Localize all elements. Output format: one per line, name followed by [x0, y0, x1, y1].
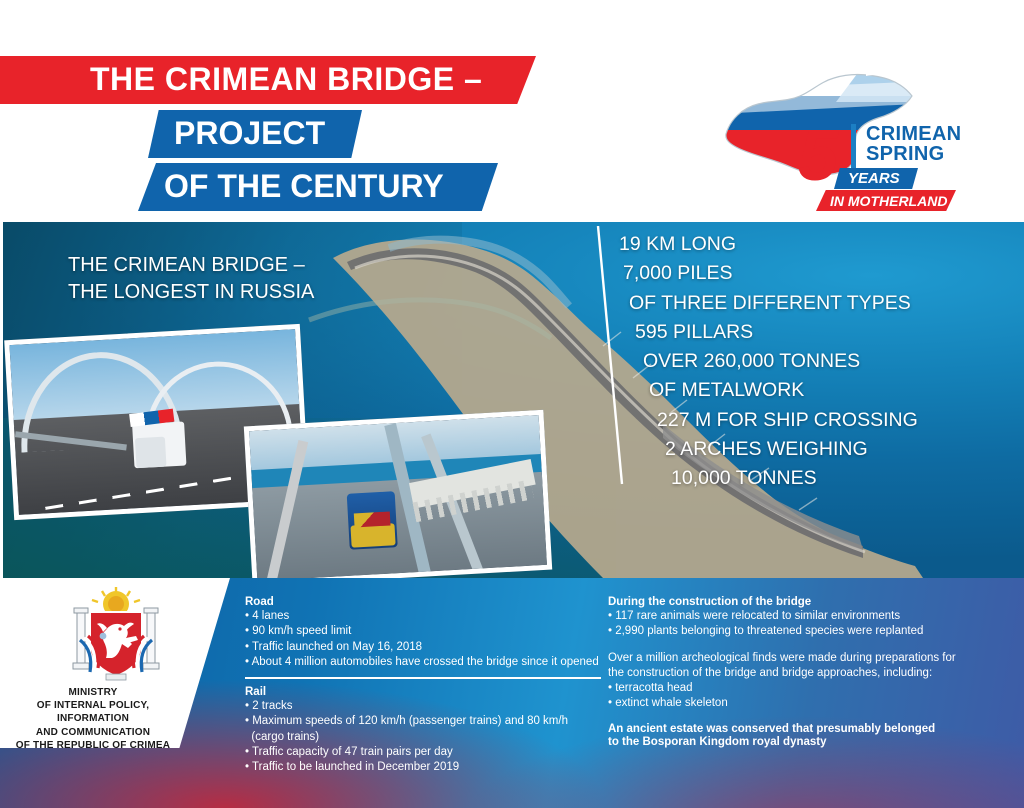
ministry-caption-line: MINISTRY	[0, 686, 186, 699]
archeology-paragraph-line: Over a million archeological finds were …	[608, 651, 998, 666]
stat-item: 2 ARCHES WEIGHING	[665, 435, 918, 464]
rail-item: • 2 tracks	[245, 699, 605, 714]
logo-name-line-2: SPRING	[866, 144, 944, 164]
road-item: • 90 km/h speed limit	[245, 624, 605, 639]
logo-years-label: YEARS	[848, 170, 900, 187]
ancient-estate-line: to the Bosporan Kingdom royal dynasty	[608, 736, 998, 748]
ancient-estate-line: An ancient estate was conserved that pre…	[608, 723, 998, 735]
ministry-emblem-panel: MINISTRY OF INTERNAL POLICY, INFORMATION…	[0, 578, 230, 748]
title-line-2: PROJECT	[174, 115, 325, 152]
spacer	[608, 712, 998, 723]
find-item: • terracotta head	[608, 681, 998, 696]
hero-subtitle-line-2: THE LONGEST IN RUSSIA	[68, 279, 314, 306]
crimean-spring-logo: 5 CRIMEAN SPRING YEARS IN MOTHERLAND	[716, 62, 956, 212]
ministry-caption-line: INFORMATION	[0, 712, 186, 725]
stat-item: OVER 260,000 TONNES	[643, 347, 918, 376]
road-item: • Traffic launched on May 16, 2018	[245, 640, 605, 655]
title-banner-blue-1: PROJECT	[148, 110, 362, 158]
stat-item: OF METALWORK	[649, 376, 918, 405]
truck-cab	[135, 437, 167, 469]
rail-item: • Traffic to be launched in December 201…	[245, 760, 605, 775]
logo-motherland-badge: IN MOTHERLAND	[816, 190, 956, 211]
logo-years-badge: YEARS	[834, 168, 918, 189]
find-item: • extinct whale skeleton	[608, 696, 998, 711]
construction-heading: During the construction of the bridge	[608, 596, 998, 608]
construction-item: • 2,990 plants belonging to threatened s…	[608, 624, 998, 639]
ministry-caption: MINISTRY OF INTERNAL POLICY, INFORMATION…	[0, 686, 186, 752]
hero-aerial-photo: THE CRIMEAN BRIDGE – THE LONGEST IN RUSS…	[3, 222, 1024, 578]
stat-item: 7,000 PILES	[623, 259, 918, 288]
stat-item: 595 PILLARS	[635, 318, 918, 347]
archeology-paragraph-line: the construction of the bridge and bridg…	[608, 666, 998, 681]
spacer	[608, 640, 998, 651]
logo-number-5: 5	[798, 120, 836, 192]
rail-item: (cargo trains)	[245, 730, 605, 745]
rail-item: • Maximum speeds of 120 km/h (passenger …	[245, 714, 605, 729]
road-rail-column: Road • 4 lanes • 90 km/h speed limit • T…	[245, 596, 605, 776]
rail-heading: Rail	[245, 686, 605, 698]
locomotive-chevron	[354, 511, 391, 527]
stat-item: OF THREE DIFFERENT TYPES	[629, 289, 918, 318]
coat-of-arms-of-crimea-icon	[62, 586, 170, 690]
section-divider	[245, 677, 601, 679]
shell-icon	[100, 633, 107, 640]
construction-column: During the construction of the bridge • …	[608, 596, 998, 749]
title-banner-red: THE CRIMEAN BRIDGE –	[0, 56, 536, 104]
stat-item: 19 KM LONG	[619, 230, 918, 259]
title-banner-blue-2: OF THE CENTURY	[138, 163, 498, 211]
road-item: • 4 lanes	[245, 609, 605, 624]
title-line-3: OF THE CENTURY	[164, 168, 444, 205]
logo-divider-bar	[851, 124, 856, 168]
construction-item: • 117 rare animals were relocated to sim…	[608, 609, 998, 624]
locomotive-on-rail-photo	[244, 410, 552, 578]
stat-item: 10,000 TONNES	[671, 464, 918, 493]
infographic-page: THE CRIMEAN BRIDGE – PROJECT OF THE CENT…	[0, 0, 1024, 808]
road-item: • About 4 million automobiles have cross…	[245, 655, 605, 670]
stat-item: 227 M FOR SHIP CROSSING	[657, 406, 918, 435]
road-heading: Road	[245, 596, 605, 608]
rail-item: • Traffic capacity of 47 train pairs per…	[245, 745, 605, 760]
ministry-caption-line: OF INTERNAL POLICY,	[0, 699, 186, 712]
title-line-1: THE CRIMEAN BRIDGE –	[90, 61, 482, 98]
ministry-caption-line: OF THE REPUBLIC OF CRIMEA	[0, 739, 186, 752]
hero-subtitle-line-1: THE CRIMEAN BRIDGE –	[68, 252, 314, 279]
logo-motherland-label: IN MOTHERLAND	[830, 193, 947, 209]
hero-subtitle: THE CRIMEAN BRIDGE – THE LONGEST IN RUSS…	[68, 252, 314, 306]
logo-name-line-1: CRIMEAN	[866, 124, 961, 144]
stats-list: 19 KM LONG 7,000 PILES OF THREE DIFFEREN…	[615, 230, 918, 493]
ministry-caption-line: AND COMMUNICATION	[0, 726, 186, 739]
bottom-panel: MINISTRY OF INTERNAL POLICY, INFORMATION…	[0, 578, 1024, 808]
